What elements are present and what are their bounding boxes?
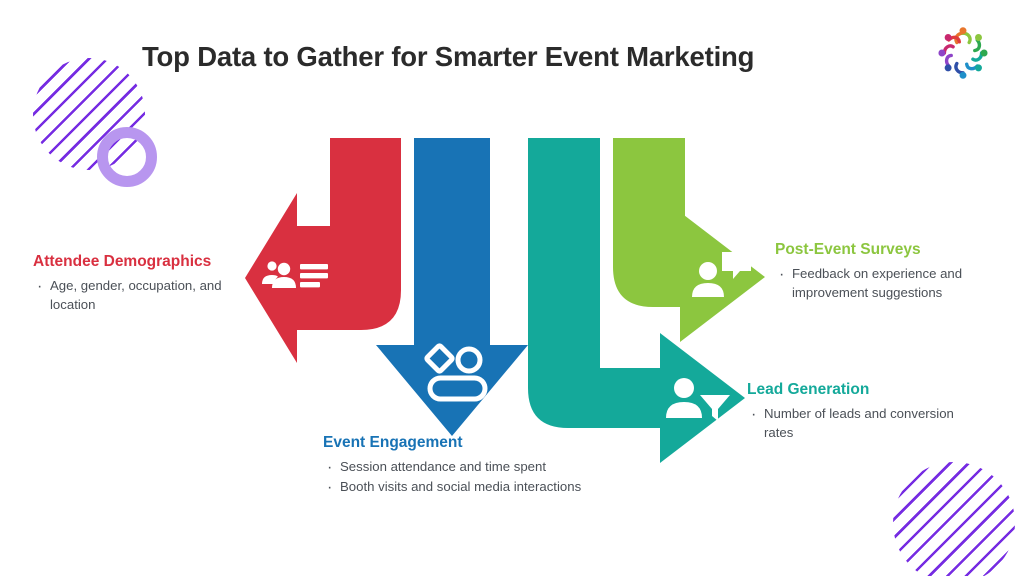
block-surveys-title: Post-Event Surveys (775, 240, 1005, 260)
block-event-engagement: Event Engagement Session attendance and … (323, 433, 588, 498)
block-lead-bullets: Number of leads and conversion rates (747, 405, 977, 442)
block-attendee-title: Attendee Demographics (33, 252, 258, 272)
block-engagement-bullets: Session attendance and time spent Booth … (323, 458, 588, 496)
arrow-surveys[interactable] (613, 138, 765, 342)
block-lead-title: Lead Generation (747, 380, 977, 400)
list-item: Number of leads and conversion rates (747, 405, 977, 442)
block-attendee-demographics: Attendee Demographics Age, gender, occup… (33, 252, 258, 316)
block-post-event-surveys: Post-Event Surveys Feedback on experienc… (775, 240, 1005, 304)
slide-canvas: Top Data to Gather for Smarter Event Mar… (0, 0, 1024, 576)
list-item: Age, gender, occupation, and location (33, 277, 258, 314)
block-surveys-bullets: Feedback on experience and improvement s… (775, 265, 1005, 302)
list-item: Booth visits and social media interactio… (323, 478, 588, 497)
list-item: Feedback on experience and improvement s… (775, 265, 1005, 302)
block-engagement-title: Event Engagement (323, 433, 588, 453)
arrow-attendee[interactable] (245, 138, 401, 363)
list-item: Session attendance and time spent (323, 458, 588, 477)
block-attendee-bullets: Age, gender, occupation, and location (33, 277, 258, 314)
block-lead-generation: Lead Generation Number of leads and conv… (747, 380, 977, 444)
